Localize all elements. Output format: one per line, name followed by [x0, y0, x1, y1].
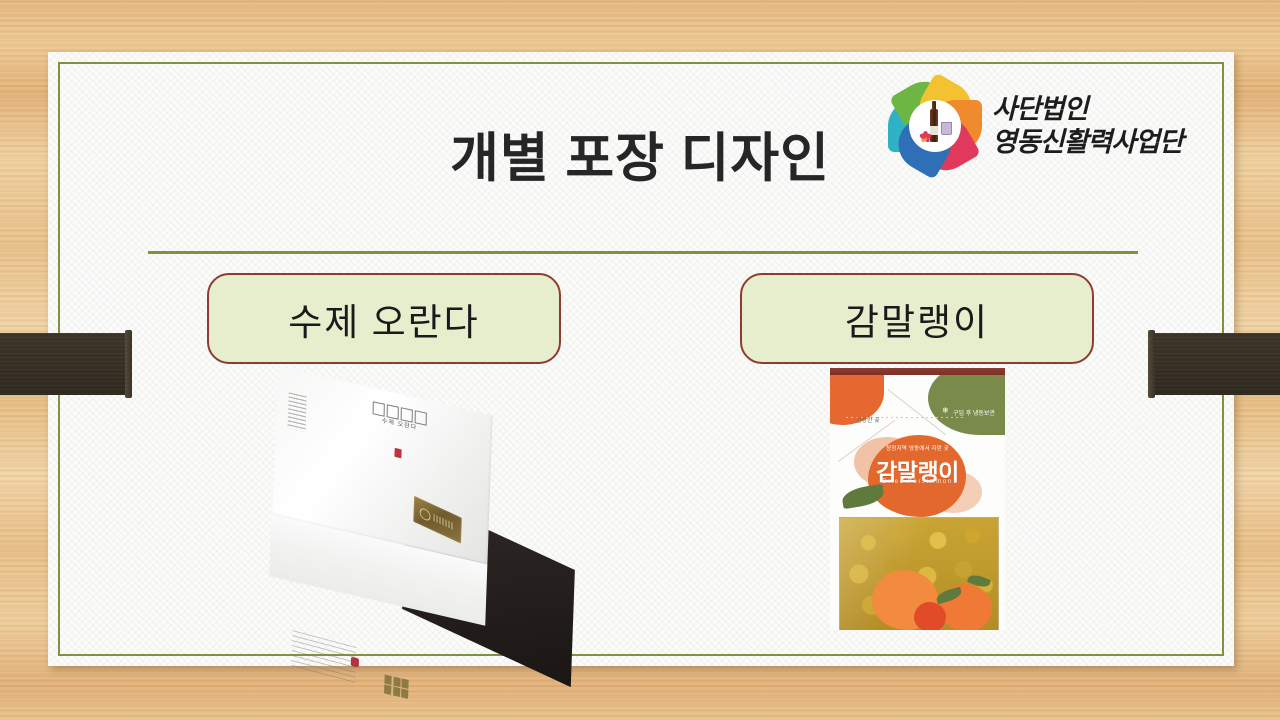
pouch-leaf-shape — [841, 484, 885, 509]
pouch-body: ❄ 구입 후 냉동보관 건강한 곶 청정지역 영동에서 자란 곶 감말랭이 Dr… — [830, 375, 1005, 630]
pouch-transparent-window — [839, 517, 999, 630]
decorative-bar-right — [1148, 333, 1280, 395]
product-label-gammallaengi: 감말랭이 — [740, 273, 1094, 364]
logo-line-1: 사단법인 — [992, 93, 1183, 126]
bar-cap-right — [1148, 330, 1155, 398]
product-label-text: 감말랭이 — [845, 292, 989, 346]
pouch-english-text: Dried Persimmon — [830, 479, 1005, 485]
product-label-oranda: 수제 오란다 — [207, 273, 561, 364]
gift-box-body: 수제 오란다 — [272, 366, 492, 564]
gift-box-photo: 수제 오란다 — [255, 378, 535, 608]
flower-icon — [919, 130, 931, 142]
header-divider — [148, 251, 1138, 254]
decorative-bar-left — [0, 333, 132, 395]
pouch-green-shape-top-right: ❄ 구입 후 냉동보관 — [928, 375, 1005, 435]
organization-logo: 사단법인 영동신활력사업단 — [886, 76, 1236, 176]
pouch-top-seal — [830, 368, 1005, 375]
bar-cap-left — [125, 330, 132, 398]
box-front-red-dot-icon — [351, 657, 359, 668]
pouch-subtitle-text: 청정지역 영동에서 자란 곶 — [830, 444, 1005, 452]
pouch-photo: ❄ 구입 후 냉동보관 건강한 곶 청정지역 영동에서 자란 곶 감말랭이 Dr… — [830, 368, 1005, 630]
logo-core-circle — [909, 100, 961, 152]
pouch-top-note: 건강한 곶 — [856, 415, 880, 424]
slide-canvas: 개별 포장 디자인 사단법인 영동신활력사업단 수제 오란다 감말랭 — [0, 0, 1280, 720]
box-red-seal-icon — [394, 448, 401, 459]
flower-petal-wine-logo-icon — [886, 77, 984, 175]
wine-glass-icon — [941, 122, 952, 135]
snowflake-icon: ❄ — [942, 407, 949, 415]
box-front-grid-icon — [384, 675, 409, 699]
product-label-text: 수제 오란다 — [288, 292, 479, 346]
box-side-text-block — [288, 392, 307, 432]
logo-line-2: 영동신활력사업단 — [992, 126, 1183, 159]
bottle-label-icon — [930, 126, 938, 135]
logo-text-block: 사단법인 영동신활력사업단 — [992, 93, 1183, 159]
pouch-storage-note: 구입 후 냉동보관 — [953, 408, 995, 417]
box-brand-mark-icon: 수제 오란다 — [368, 400, 431, 451]
persimmon-silhouette-small — [914, 602, 946, 630]
